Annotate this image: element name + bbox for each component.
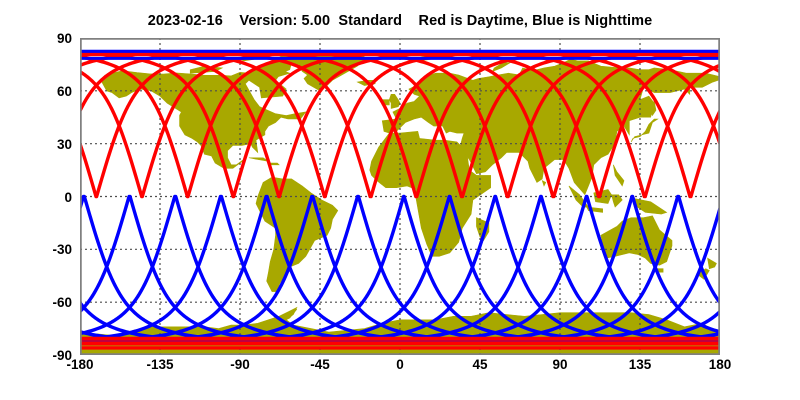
ground-track-map [80, 38, 720, 355]
x-tick-label-135: 135 [610, 357, 670, 372]
y-tick-label-60: 60 [26, 84, 72, 99]
y-tick-label-0: 0 [26, 190, 72, 205]
x-tick-label-m180: -180 [50, 357, 110, 372]
map-plot-area [80, 38, 720, 355]
swath-map-page: 2023-02-16 Version: 5.00 Standard Red is… [0, 0, 800, 400]
x-tick-label-0: 0 [370, 357, 430, 372]
y-tick-label-m60: -60 [26, 295, 72, 310]
y-tick-label-30: 30 [26, 137, 72, 152]
x-tick-label-90: 90 [530, 357, 590, 372]
x-tick-label-m90: -90 [210, 357, 270, 372]
y-tick-label-90: 90 [26, 31, 72, 46]
x-tick-label-180: 180 [690, 357, 750, 372]
x-tick-label-m45: -45 [290, 357, 350, 372]
x-tick-label-45: 45 [450, 357, 510, 372]
y-tick-label-m30: -30 [26, 242, 72, 257]
page-title: 2023-02-16 Version: 5.00 Standard Red is… [0, 13, 800, 29]
x-tick-label-m135: -135 [130, 357, 190, 372]
